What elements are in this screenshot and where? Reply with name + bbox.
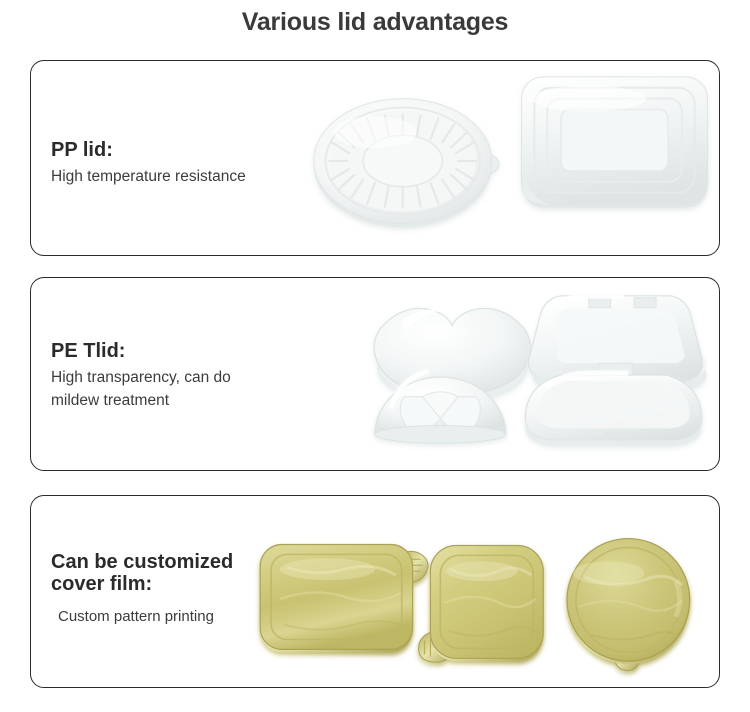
gold-square-foil-cover-graphic xyxy=(419,545,544,662)
heart-dome-lid-graphic xyxy=(374,297,530,406)
pp-lid-heading: PP lid: xyxy=(51,139,246,161)
gold-rectangular-foil-cover-graphic xyxy=(260,544,428,652)
panel-pe-lid: PE Tlid: High transparency, can do milde… xyxy=(30,277,720,471)
pp-lid-text-block: PP lid: High temperature resistance xyxy=(51,139,246,189)
custom-cover-film-subtitle: Custom pattern printing xyxy=(51,606,233,628)
pe-lid-subtitle: High transparency, can do mildew treatme… xyxy=(51,367,231,412)
panel-custom-cover-film: Can be customized cover film: Custom pat… xyxy=(30,495,720,688)
custom-cover-film-text-block: Can be customized cover film: Custom pat… xyxy=(51,551,233,628)
oval-flat-lid-graphic xyxy=(525,373,701,446)
round-ribbed-lid-graphic xyxy=(314,99,499,228)
gold-round-foil-cover-graphic xyxy=(567,539,690,671)
pe-lid-text-block: PE Tlid: High transparency, can do milde… xyxy=(51,340,231,412)
custom-cover-film-heading: Can be customized cover film: xyxy=(51,551,233,596)
rectangular-flat-lid-graphic xyxy=(522,77,708,208)
pp-lid-subtitle: High temperature resistance xyxy=(51,166,246,188)
panel-pp-lid: PP lid: High temperature resistance xyxy=(30,60,720,256)
pe-lid-heading: PE Tlid: xyxy=(51,340,231,362)
square-dome-lid-graphic xyxy=(529,296,707,395)
round-dome-lid-graphic xyxy=(375,371,506,443)
page-title: Various lid advantages xyxy=(0,8,750,37)
